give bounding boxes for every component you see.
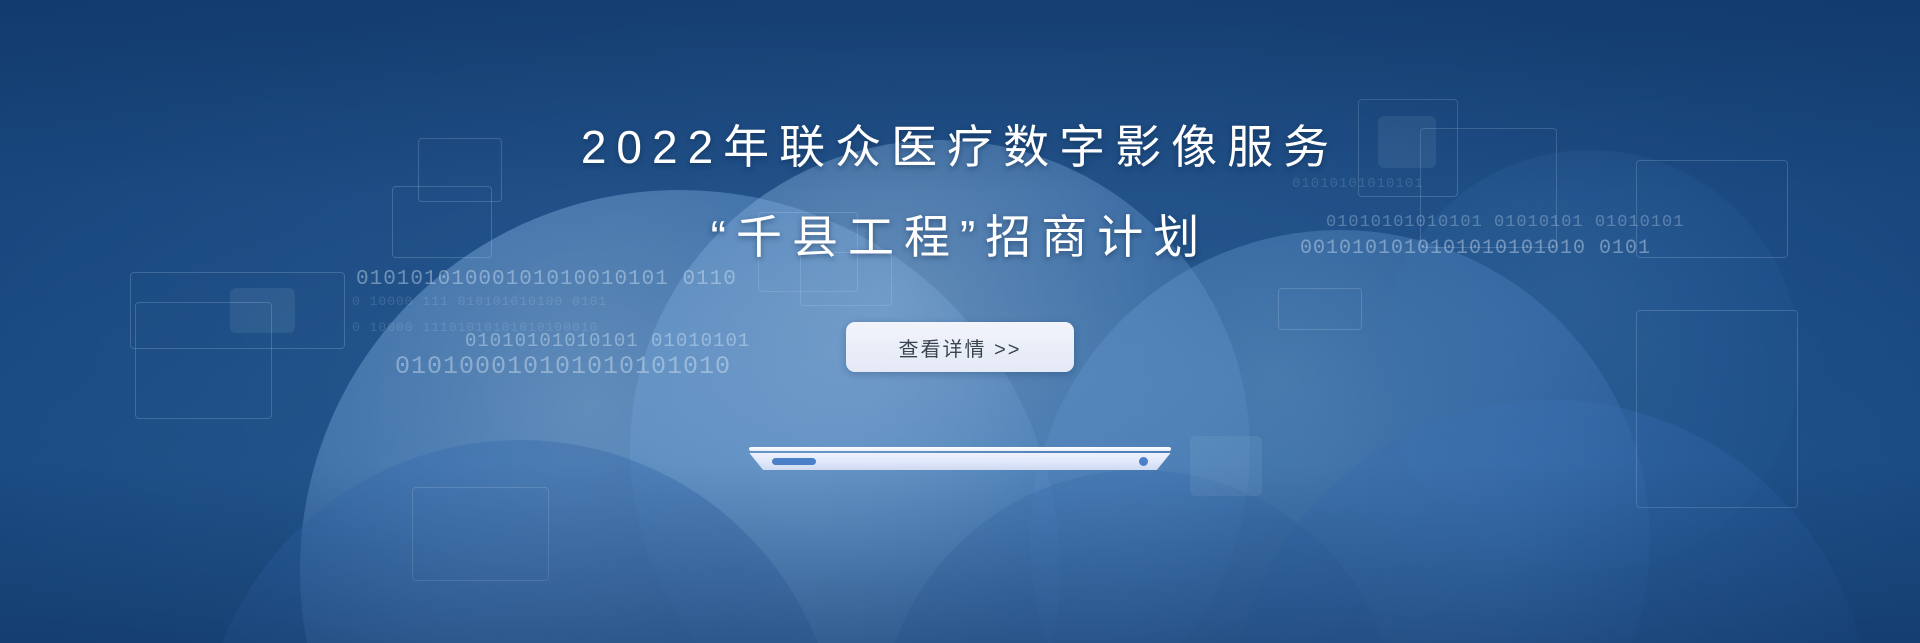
cta-container: 查看详情 >> [0, 322, 1920, 372]
decor-rect-outline-left-3 [412, 487, 549, 581]
laptop-screen-edge [749, 447, 1171, 451]
laptop-body [746, 453, 1174, 470]
banner-content: 2022年联众医疗数字影像服务 “千县工程”招商计划 查看详情 >> [0, 0, 1920, 372]
banner-title-line-2: “千县工程”招商计划 [0, 170, 1920, 260]
banner-title-line-1: 2022年联众医疗数字影像服务 [0, 0, 1920, 170]
view-details-button[interactable]: 查看详情 >> [846, 322, 1074, 372]
promo-banner: 01010101000101010010101 0110 0 10000 111… [0, 0, 1920, 643]
laptop-indicator-bar-icon [772, 458, 816, 465]
laptop-base-illustration [746, 447, 1174, 470]
laptop-indicator-dot-icon [1139, 457, 1148, 466]
decor-rect-fill-right-2 [1190, 436, 1262, 496]
